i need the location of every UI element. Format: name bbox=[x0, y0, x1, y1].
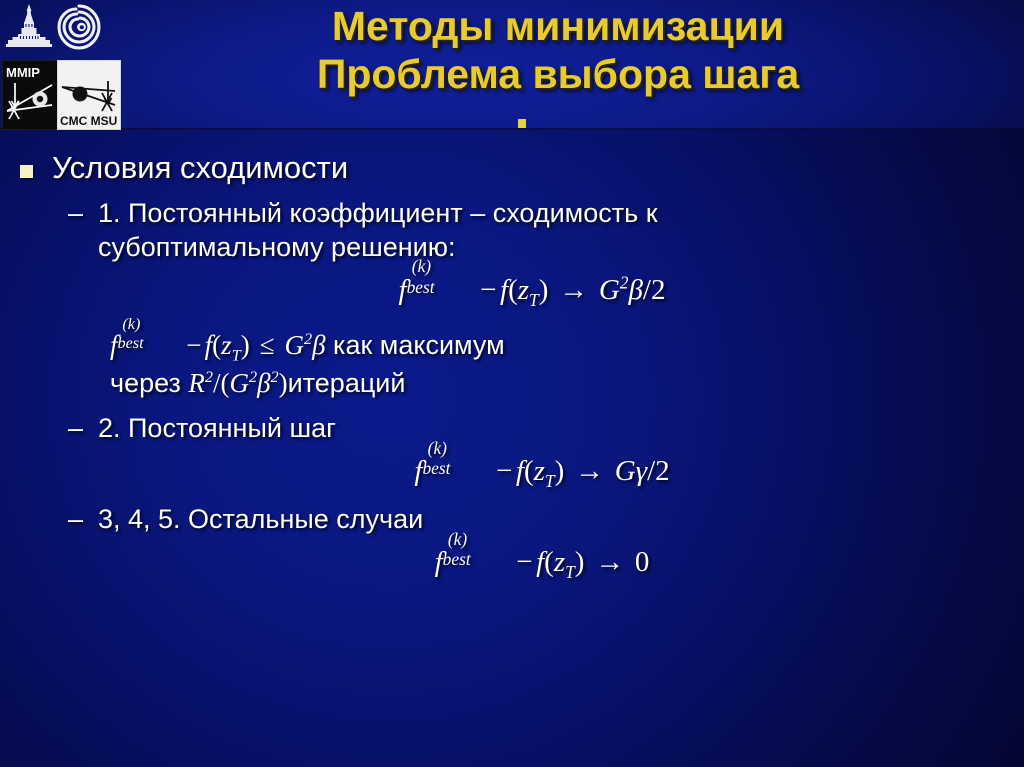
equation-1-lhs: f(k)best bbox=[399, 270, 477, 307]
equation-1: f(k)best−f(zT) → G2β/2 bbox=[0, 270, 1024, 311]
title-line-2: Проблема выбора шага bbox=[118, 48, 998, 96]
dash-bullet-icon: – bbox=[68, 196, 83, 230]
equation-2-line2-suffix: итераций bbox=[288, 368, 406, 398]
cmc-msu-logo: CMC MSU bbox=[57, 60, 121, 130]
equation-1-relation: → bbox=[548, 274, 598, 306]
case-2-line-1: 2. Постоянный шаг bbox=[98, 413, 336, 443]
equation-2: f(k)best−f(zT) ≤ G2β bbox=[110, 330, 326, 360]
spiral-logo bbox=[55, 2, 103, 52]
equation-4-rhs: 0 bbox=[635, 546, 650, 578]
bullet-level1-conditions: Условия сходимости bbox=[0, 150, 1024, 186]
equation-2-line2-math: R2/(G2β2) bbox=[188, 368, 287, 398]
dash-bullet-icon: – bbox=[68, 411, 83, 445]
header-divider bbox=[0, 128, 1024, 131]
bullet-level1-label: Условия сходимости bbox=[52, 150, 348, 185]
svg-text:MMIP: MMIP bbox=[6, 65, 40, 80]
slide-body: Условия сходимости – 1. Постоянный коэфф… bbox=[0, 136, 1024, 583]
equation-1-rhs: G2β/2 bbox=[599, 274, 666, 306]
mmip-logo: MMIP bbox=[2, 60, 58, 130]
equation-2-line2-prefix: через bbox=[110, 368, 188, 398]
list-item-case-345: – 3, 4, 5. Остальные случаи bbox=[0, 502, 1024, 536]
equation-2-trailing-text: как максимум bbox=[326, 330, 505, 360]
equation-3-rhs: Gγ/2 bbox=[615, 455, 670, 487]
msu-building-logo bbox=[6, 4, 52, 52]
case-1-line-1: 1. Постоянный коэффициент – сходимость к bbox=[98, 198, 658, 228]
dash-bullet-icon: – bbox=[68, 502, 83, 536]
case-1-line-2: субоптимальному решению: bbox=[98, 232, 456, 262]
equation-1-fz: f bbox=[500, 274, 508, 306]
slide-canvas: MMIP bbox=[0, 0, 1024, 767]
list-item-case-1: – 1. Постоянный коэффициент – сходимость… bbox=[0, 196, 1024, 264]
equation-1-minus: − bbox=[477, 274, 500, 306]
equation-3: f(k)best−f(zT) → Gγ/2 bbox=[0, 451, 1024, 492]
title-line-1: Методы минимизации bbox=[118, 0, 998, 48]
svg-text:CMC MSU: CMC MSU bbox=[60, 114, 117, 128]
square-bullet-icon bbox=[20, 165, 33, 178]
page-title: Методы минимизации Проблема выбора шага bbox=[118, 0, 998, 96]
equation-2-block: f(k)best−f(zT) ≤ G2β как максимум через … bbox=[0, 327, 1024, 402]
case-345-line-1: 3, 4, 5. Остальные случаи bbox=[98, 504, 423, 534]
list-item-case-2: – 2. Постоянный шаг bbox=[0, 411, 1024, 445]
equation-4: f(k)best−f(zT) → 0 bbox=[0, 542, 1024, 583]
header-artifact-mark bbox=[518, 119, 526, 128]
